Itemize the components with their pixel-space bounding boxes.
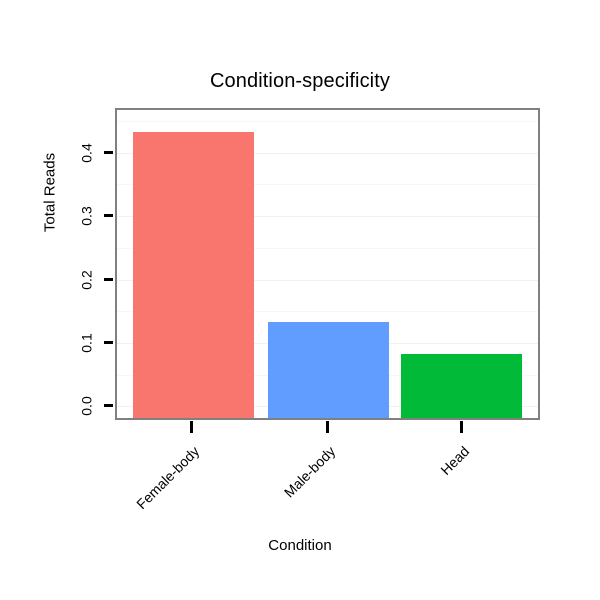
x-tick-mark-male-body (326, 421, 329, 433)
bar-female-body[interactable] (133, 132, 254, 418)
y-tick-label-0.0: 0.0 (0, 398, 96, 414)
gridline-minor-0.45 (117, 121, 538, 122)
y-tick-mark-0.4 (104, 151, 113, 154)
x-tick-label-male-body: Male-body (242, 443, 338, 539)
y-tick-text: 0.1 (78, 333, 94, 352)
y-tick-text: 0.2 (78, 270, 94, 289)
bar-head[interactable] (401, 354, 522, 418)
y-tick-label-0.1: 0.1 (0, 335, 96, 351)
y-tick-mark-0.1 (104, 341, 113, 344)
x-tick-mark-female-body (190, 421, 193, 433)
y-tick-mark-0.2 (104, 278, 113, 281)
chart-figure: Condition-specificity 0.4 0.3 0.2 0.1 (0, 0, 600, 600)
y-tick-label-0.2: 0.2 (0, 272, 96, 288)
y-tick-text: 0.0 (78, 396, 94, 415)
y-axis: 0.4 0.3 0.2 0.1 0.0 Total Reads (0, 0, 115, 600)
x-axis-title: Condition (0, 537, 600, 554)
y-tick-text: 0.4 (78, 143, 94, 162)
x-tick-label-female-body: Female-body (103, 443, 203, 543)
y-tick-text: 0.3 (78, 206, 94, 225)
y-axis-title: Total Reads (42, 133, 59, 253)
plot-panel (115, 108, 540, 420)
x-tick-mark-head (460, 421, 463, 433)
x-tick-label-head: Head (404, 443, 472, 511)
bar-male-body[interactable] (268, 322, 389, 418)
y-tick-mark-0.0 (104, 404, 113, 407)
y-tick-mark-0.3 (104, 214, 113, 217)
